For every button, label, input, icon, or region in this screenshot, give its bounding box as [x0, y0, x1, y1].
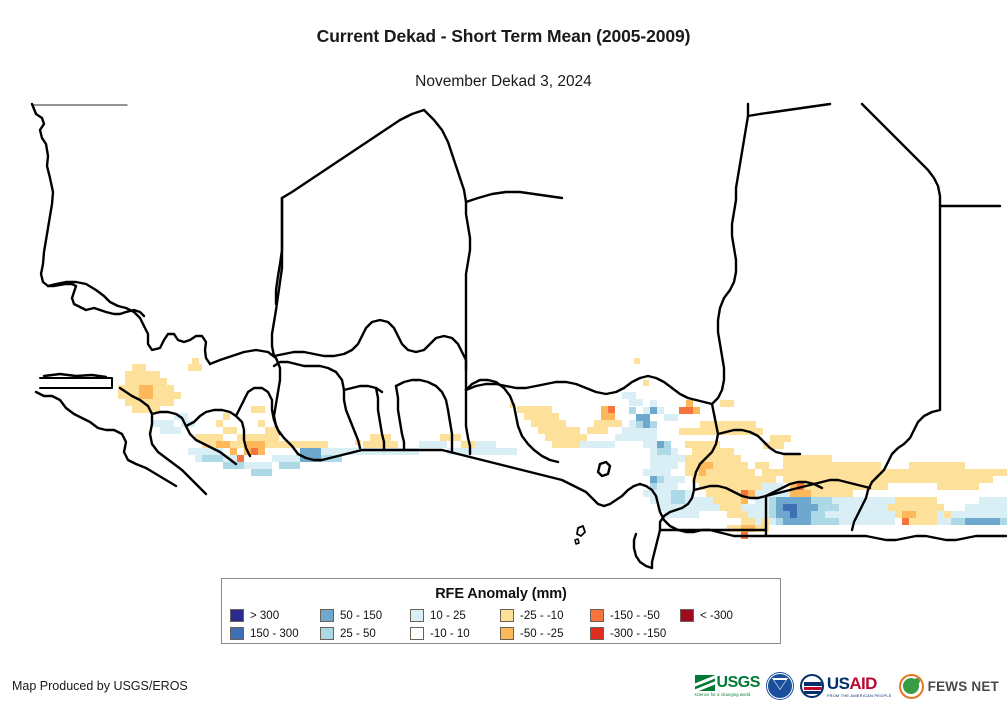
usaid-logo[interactable]: USAID FROM THE AMERICAN PEOPLE — [800, 671, 892, 701]
legend-title: RFE Anomaly (mm) — [222, 586, 780, 602]
usgs-wave-icon — [695, 675, 715, 691]
legend-item[interactable]: 25 - 50 — [320, 626, 410, 641]
legend-label: -10 - 10 — [430, 628, 470, 640]
legend-label: -300 - -150 — [610, 628, 666, 640]
legend-item[interactable]: -150 - -50 — [590, 608, 680, 623]
anomaly-raster-layer — [118, 358, 1007, 539]
usaid-logo-text-us: US — [827, 674, 849, 693]
legend-swatch-10-25 — [410, 609, 424, 622]
legend-swatch-gt-300 — [230, 609, 244, 622]
legend-label: 25 - 50 — [340, 628, 376, 640]
usgs-logo[interactable]: USGS science for a changing world — [695, 671, 760, 701]
noaa-logo[interactable] — [767, 671, 793, 701]
legend-column: -150 - -50 -300 - -150 — [590, 608, 680, 641]
legend-item[interactable]: > 300 — [230, 608, 320, 623]
legend-item[interactable]: 150 - 300 — [230, 626, 320, 641]
usaid-logo-text-aid: AID — [849, 674, 876, 693]
legend-swatch-neg25-neg10 — [500, 609, 514, 622]
legend-column: 10 - 25 -10 - 10 — [410, 608, 500, 641]
legend-swatch-neg10-10 — [410, 627, 424, 640]
legend-label: 10 - 25 — [430, 610, 466, 622]
legend-label: 50 - 150 — [340, 610, 382, 622]
legend-swatch-25-50 — [320, 627, 334, 640]
legend-item[interactable]: -50 - -25 — [500, 626, 590, 641]
legend-label: -50 - -25 — [520, 628, 563, 640]
legend-item[interactable]: -300 - -150 — [590, 626, 680, 641]
usaid-tagline: FROM THE AMERICAN PEOPLE — [827, 694, 892, 698]
legend-swatch-neg300-neg150 — [590, 627, 604, 640]
legend-item[interactable]: 10 - 25 — [410, 608, 500, 623]
legend-label: -25 - -10 — [520, 610, 563, 622]
agency-logos: USGS science for a changing world USAID … — [695, 669, 999, 703]
legend-label: > 300 — [250, 610, 279, 622]
legend-swatch-neg50-neg25 — [500, 627, 514, 640]
legend-swatch-neg150-neg50 — [590, 609, 604, 622]
legend-column: > 300 150 - 300 — [230, 608, 320, 641]
legend-item[interactable]: < -300 — [680, 608, 768, 623]
map-canvas[interactable] — [0, 100, 1007, 570]
usgs-tagline: science for a changing world — [695, 692, 760, 697]
usaid-seal-icon — [800, 674, 824, 698]
fews-net-logo[interactable]: FEWS NET — [899, 671, 999, 701]
fews-globe-icon — [899, 674, 924, 699]
legend-label: -150 - -50 — [610, 610, 660, 622]
map-credit: Map Produced by USGS/EROS — [12, 679, 188, 693]
legend-item[interactable]: -10 - 10 — [410, 626, 500, 641]
legend-column: 50 - 150 25 - 50 — [320, 608, 410, 641]
page-title: Current Dekad - Short Term Mean (2005-20… — [0, 26, 1007, 47]
legend-item[interactable]: 50 - 150 — [320, 608, 410, 623]
legend-swatch-150-300 — [230, 627, 244, 640]
legend-swatch-50-150 — [320, 609, 334, 622]
map-page: Current Dekad - Short Term Mean (2005-20… — [0, 0, 1007, 715]
usgs-logo-text: USGS — [717, 675, 760, 691]
legend-label: < -300 — [700, 610, 733, 622]
legend-label: 150 - 300 — [250, 628, 299, 640]
legend-column: < -300 — [680, 608, 768, 641]
legend-column: -25 - -10 -50 - -25 — [500, 608, 590, 641]
fews-net-logo-text: FEWS NET — [928, 679, 999, 694]
page-subtitle: November Dekad 3, 2024 — [0, 73, 1007, 91]
legend-item[interactable]: -25 - -10 — [500, 608, 590, 623]
noaa-seal-icon — [767, 673, 793, 699]
map-legend: RFE Anomaly (mm) > 300 150 - 300 50 - 15… — [221, 578, 781, 644]
legend-entries: > 300 150 - 300 50 - 150 25 - 50 — [222, 608, 780, 641]
legend-swatch-lt-neg300 — [680, 609, 694, 622]
